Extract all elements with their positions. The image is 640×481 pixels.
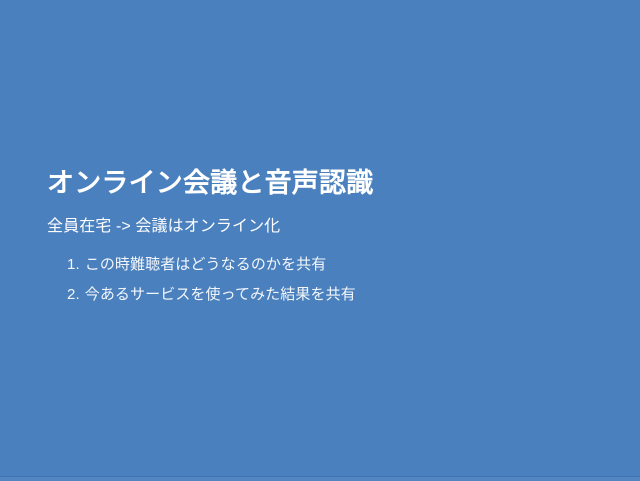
slide-content-block: オンライン会議と音声認識 全員在宅 -> 会議はオンライン化 1. この時難聴者… (47, 166, 607, 310)
slide-subtitle: 全員在宅 -> 会議はオンライン化 (47, 200, 607, 238)
presentation-slide: オンライン会議と音声認識 全員在宅 -> 会議はオンライン化 1. この時難聴者… (0, 0, 640, 476)
slide-title: オンライン会議と音声認識 (47, 166, 607, 200)
slide-viewport: オンライン会議と音声認識 全員在宅 -> 会議はオンライン化 1. この時難聴者… (0, 0, 640, 481)
list-item-marker: 1. (67, 250, 80, 280)
slide-ordered-list: 1. この時難聴者はどうなるのかを共有 2. 今あるサービスを使ってみた結果を共… (47, 238, 607, 310)
slide-page-gutter (0, 477, 640, 481)
list-item: 1. この時難聴者はどうなるのかを共有 (47, 250, 607, 280)
list-item-marker: 2. (67, 280, 80, 310)
list-item-label: この時難聴者はどうなるのかを共有 (85, 250, 327, 280)
list-item: 2. 今あるサービスを使ってみた結果を共有 (47, 280, 607, 310)
list-item-label: 今あるサービスを使ってみた結果を共有 (85, 280, 356, 310)
